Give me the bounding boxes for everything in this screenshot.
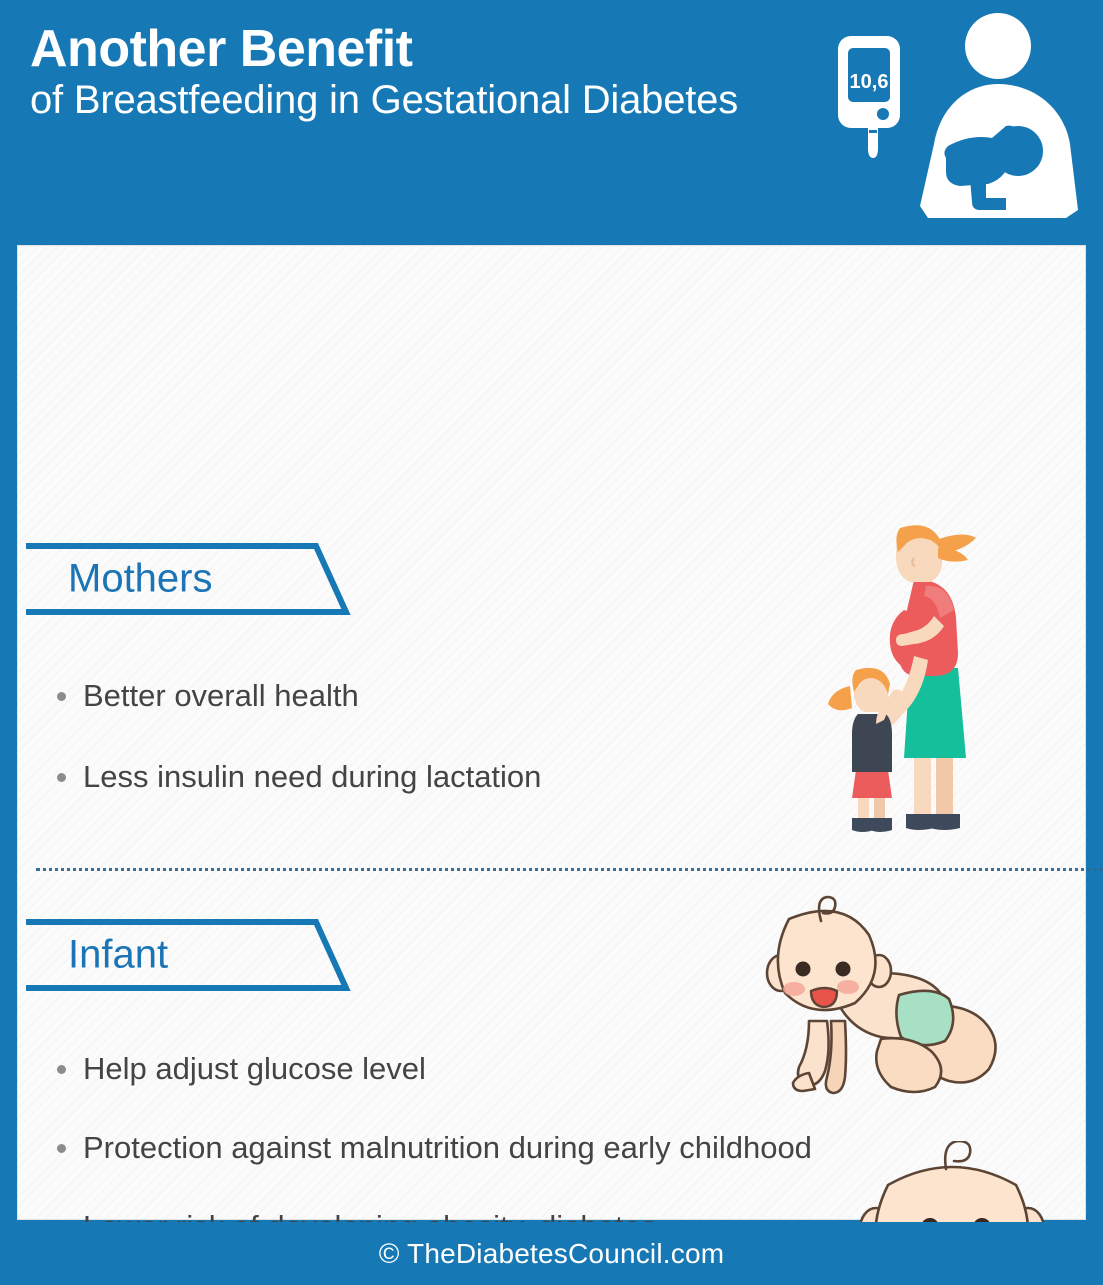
list-item: Protection against malnutrition during e… (35, 1128, 835, 1169)
eye (836, 962, 851, 977)
section-divider (36, 868, 1103, 871)
list-item-text: Less insulin need during lactation (83, 759, 541, 794)
eye (796, 962, 811, 977)
glucometer-reading-text: 10,6 (850, 71, 889, 93)
section-banner-infant: Infant (26, 919, 356, 991)
pregnant-mother-figure (880, 525, 976, 830)
page-title: Another Benefit of Breastfeeding in Gest… (30, 20, 820, 123)
list-item-text: Help adjust glucose level (83, 1051, 426, 1086)
list-item: Less insulin need during lactation (35, 757, 795, 798)
content-panel: Mothers Better overall health Less insul… (17, 245, 1086, 1220)
header-illustration: 10,6 (820, 6, 1095, 234)
child-figure (828, 668, 902, 832)
crawling-baby-illustration (753, 891, 1018, 1106)
list-item-text: Better overall health (83, 678, 359, 713)
infographic-canvas: Another Benefit of Breastfeeding in Gest… (0, 0, 1103, 1285)
list-item-text: Protection against malnutrition during e… (83, 1130, 812, 1165)
bullet-dot-icon (57, 1144, 66, 1153)
section-title-mothers: Mothers (68, 557, 213, 602)
pregnant-mother-with-child-illustration (818, 518, 1048, 843)
footer-bar: © TheDiabetesCouncil.com (0, 1222, 1103, 1285)
header-banner: Another Benefit of Breastfeeding in Gest… (0, 0, 1103, 238)
bullet-dot-icon (57, 1065, 66, 1074)
bullet-dot-icon (57, 692, 66, 701)
section-banner-mothers: Mothers (26, 543, 356, 615)
copyright-text: © TheDiabetesCouncil.com (379, 1238, 725, 1270)
list-item: Help adjust glucose level (35, 1049, 835, 1090)
breastfeeding-mother-icon (920, 13, 1078, 218)
benefits-list-mothers: Better overall health Less insulin need … (35, 676, 795, 838)
list-item: Better overall health (35, 676, 795, 717)
title-line-2: of Breastfeeding in Gestational Diabetes (30, 78, 820, 123)
glucometer-icon: 10,6 (838, 36, 900, 158)
section-title-infant: Infant (68, 933, 168, 978)
title-line-1: Another Benefit (30, 20, 820, 78)
bullet-dot-icon (57, 773, 66, 782)
